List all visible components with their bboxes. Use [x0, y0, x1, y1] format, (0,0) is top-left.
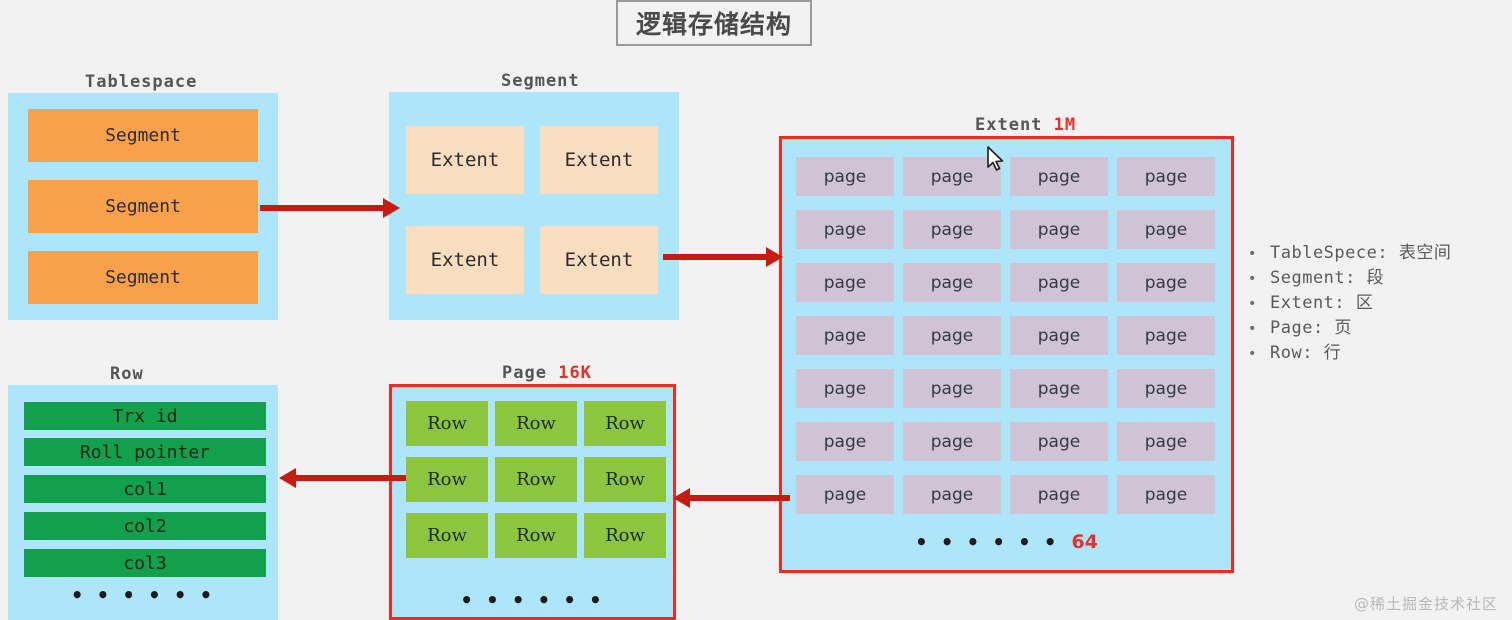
- row-block[interactable]: Row: [495, 457, 577, 502]
- page-block-label: page: [1145, 326, 1187, 346]
- legend-item: • Page: 页: [1248, 313, 1512, 338]
- row-block[interactable]: Row: [406, 513, 488, 558]
- page-block[interactable]: page: [1010, 369, 1108, 408]
- row-block[interactable]: Row: [584, 457, 666, 502]
- arrow-page-to-row-head: [279, 468, 296, 488]
- legend-list: • TableSpece: 表空间 • Segment: 段 • Extent:…: [1248, 238, 1512, 363]
- legend-item: • Extent: 区: [1248, 288, 1512, 313]
- page-block-label: page: [931, 220, 973, 240]
- arrow-segment-to-extent-line: [663, 254, 770, 260]
- legend-item-label: Segment: 段: [1270, 263, 1384, 288]
- page-block-label: page: [931, 379, 973, 399]
- row-field-block[interactable]: Roll pointer: [24, 438, 266, 466]
- page-block[interactable]: page: [796, 369, 894, 408]
- page-block[interactable]: page: [903, 475, 1001, 514]
- bullet-icon: •: [1248, 321, 1270, 337]
- page-block-label: page: [1038, 167, 1080, 187]
- page-block-label: page: [824, 379, 866, 399]
- row-panel: Trx id Roll pointer col1 col2 col3 • • •…: [8, 385, 278, 620]
- page-block[interactable]: page: [796, 475, 894, 514]
- page-block-label: page: [824, 485, 866, 505]
- extent-caption: Extent 1M: [975, 115, 1076, 135]
- row-field-block[interactable]: col3: [24, 549, 266, 577]
- page-block-label: page: [1038, 432, 1080, 452]
- page-block[interactable]: page: [903, 422, 1001, 461]
- page-block[interactable]: page: [1117, 263, 1215, 302]
- page-block-label: page: [1145, 273, 1187, 293]
- watermark: @稀土掘金技术社区: [1354, 593, 1498, 614]
- legend-item: • TableSpece: 表空间: [1248, 238, 1512, 263]
- page-block-label: page: [1145, 220, 1187, 240]
- row-block-label: Row: [605, 525, 645, 546]
- page-block[interactable]: page: [1117, 157, 1215, 196]
- page-block[interactable]: page: [1010, 475, 1108, 514]
- page-block-label: page: [824, 326, 866, 346]
- row-block-label: Row: [605, 469, 645, 490]
- extent-size-label: 1M: [1054, 115, 1076, 135]
- extent-footer: • • • • • • 64: [782, 529, 1231, 555]
- page-block[interactable]: page: [1010, 316, 1108, 355]
- row-field-block[interactable]: col2: [24, 512, 266, 540]
- page-caption: Page 16K: [502, 363, 592, 383]
- legend-item: • Row: 行: [1248, 338, 1512, 363]
- row-block[interactable]: Row: [495, 513, 577, 558]
- bullet-icon: •: [1248, 346, 1270, 362]
- page-block[interactable]: page: [796, 422, 894, 461]
- page-block[interactable]: page: [1117, 316, 1215, 355]
- extent-block[interactable]: Extent: [406, 226, 524, 294]
- bullet-icon: •: [1248, 246, 1270, 262]
- page-block-label: page: [824, 167, 866, 187]
- page-block-label: page: [1038, 220, 1080, 240]
- mouse-cursor-icon: [986, 146, 1006, 174]
- extent-page-count: 64: [1072, 531, 1098, 553]
- page-block[interactable]: page: [796, 316, 894, 355]
- row-block-label: Row: [516, 413, 556, 434]
- extent-block[interactable]: Extent: [540, 126, 658, 194]
- tablespace-panel: Segment Segment Segment: [8, 93, 278, 320]
- page-block-label: page: [1145, 432, 1187, 452]
- legend-item: • Segment: 段: [1248, 263, 1512, 288]
- arrow-page-to-row-line: [296, 475, 406, 481]
- legend-item-label: TableSpece: 表空间: [1270, 238, 1451, 263]
- row-block[interactable]: Row: [406, 401, 488, 446]
- page-block-label: page: [931, 485, 973, 505]
- page-block-label: page: [1038, 485, 1080, 505]
- page-block[interactable]: page: [903, 263, 1001, 302]
- page-block[interactable]: page: [1010, 210, 1108, 249]
- segment-block[interactable]: Segment: [28, 180, 258, 233]
- page-block[interactable]: page: [796, 263, 894, 302]
- row-block-label: Row: [605, 413, 645, 434]
- arrow-segment-to-extent-head: [766, 247, 783, 267]
- legend-item-label: Row: 行: [1270, 338, 1341, 363]
- page-block-label: page: [1145, 167, 1187, 187]
- row-block[interactable]: Row: [495, 401, 577, 446]
- row-block-label: Row: [516, 525, 556, 546]
- page-block-label: page: [1038, 379, 1080, 399]
- page-panel: RowRowRowRowRowRowRowRowRow • • • • • •: [389, 384, 676, 620]
- page-block-label: page: [931, 167, 973, 187]
- page-block-label: page: [1145, 379, 1187, 399]
- page-block-label: page: [824, 220, 866, 240]
- arrow-extent-to-page-line: [690, 495, 790, 501]
- page-block[interactable]: page: [1117, 210, 1215, 249]
- row-block[interactable]: Row: [584, 401, 666, 446]
- page-block-label: page: [931, 273, 973, 293]
- page-block-label: page: [1145, 485, 1187, 505]
- row-footer-dots: • • • • • •: [8, 583, 278, 607]
- page-block[interactable]: page: [796, 210, 894, 249]
- arrow-extent-to-page-head: [673, 488, 690, 508]
- page-block-label: page: [931, 326, 973, 346]
- tablespace-caption: Tablespace: [85, 72, 197, 92]
- row-block-label: Row: [427, 413, 467, 434]
- page-footer-dots: • • • • • •: [392, 588, 673, 612]
- extent-block[interactable]: Extent: [406, 126, 524, 194]
- segment-caption: Segment: [501, 71, 580, 91]
- page-block-label: page: [824, 432, 866, 452]
- segment-block[interactable]: Segment: [28, 109, 258, 162]
- row-block[interactable]: Row: [406, 457, 488, 502]
- diagram-title: 逻辑存储结构: [636, 5, 792, 41]
- bullet-icon: •: [1248, 271, 1270, 287]
- diagram-title-box: 逻辑存储结构: [616, 0, 812, 46]
- row-block[interactable]: Row: [584, 513, 666, 558]
- bullet-icon: •: [1248, 296, 1270, 312]
- legend-item-label: Extent: 区: [1270, 288, 1373, 313]
- extent-panel: pagepagepagepagepagepagepagepagepagepage…: [779, 136, 1234, 573]
- page-block-label: page: [931, 432, 973, 452]
- segment-block[interactable]: Segment: [28, 251, 258, 304]
- page-block[interactable]: page: [1010, 422, 1108, 461]
- row-block-label: Row: [516, 469, 556, 490]
- extent-block[interactable]: Extent: [540, 226, 658, 294]
- page-block-label: page: [1038, 273, 1080, 293]
- row-caption: Row: [110, 364, 144, 384]
- page-block[interactable]: page: [1117, 369, 1215, 408]
- row-block-label: Row: [427, 469, 467, 490]
- page-block-label: page: [824, 273, 866, 293]
- legend-item-label: Page: 页: [1270, 313, 1352, 338]
- page-block[interactable]: page: [1117, 475, 1215, 514]
- page-block[interactable]: page: [796, 157, 894, 196]
- row-field-block[interactable]: Trx id: [24, 402, 266, 430]
- row-block-label: Row: [427, 525, 467, 546]
- segment-panel: Extent Extent Extent Extent: [389, 92, 679, 320]
- page-block[interactable]: page: [1010, 157, 1108, 196]
- page-block[interactable]: page: [903, 369, 1001, 408]
- diagram-canvas: 逻辑存储结构 Tablespace Segment Segment Segmen…: [0, 0, 1512, 620]
- page-block-label: page: [1038, 326, 1080, 346]
- arrow-tablespace-to-segment-line: [260, 205, 385, 211]
- arrow-tablespace-to-segment-head: [383, 198, 400, 218]
- page-size-label: 16K: [558, 363, 592, 383]
- page-block[interactable]: page: [1010, 263, 1108, 302]
- page-block[interactable]: page: [903, 316, 1001, 355]
- page-block[interactable]: page: [903, 210, 1001, 249]
- row-field-block[interactable]: col1: [24, 475, 266, 503]
- page-block[interactable]: page: [1117, 422, 1215, 461]
